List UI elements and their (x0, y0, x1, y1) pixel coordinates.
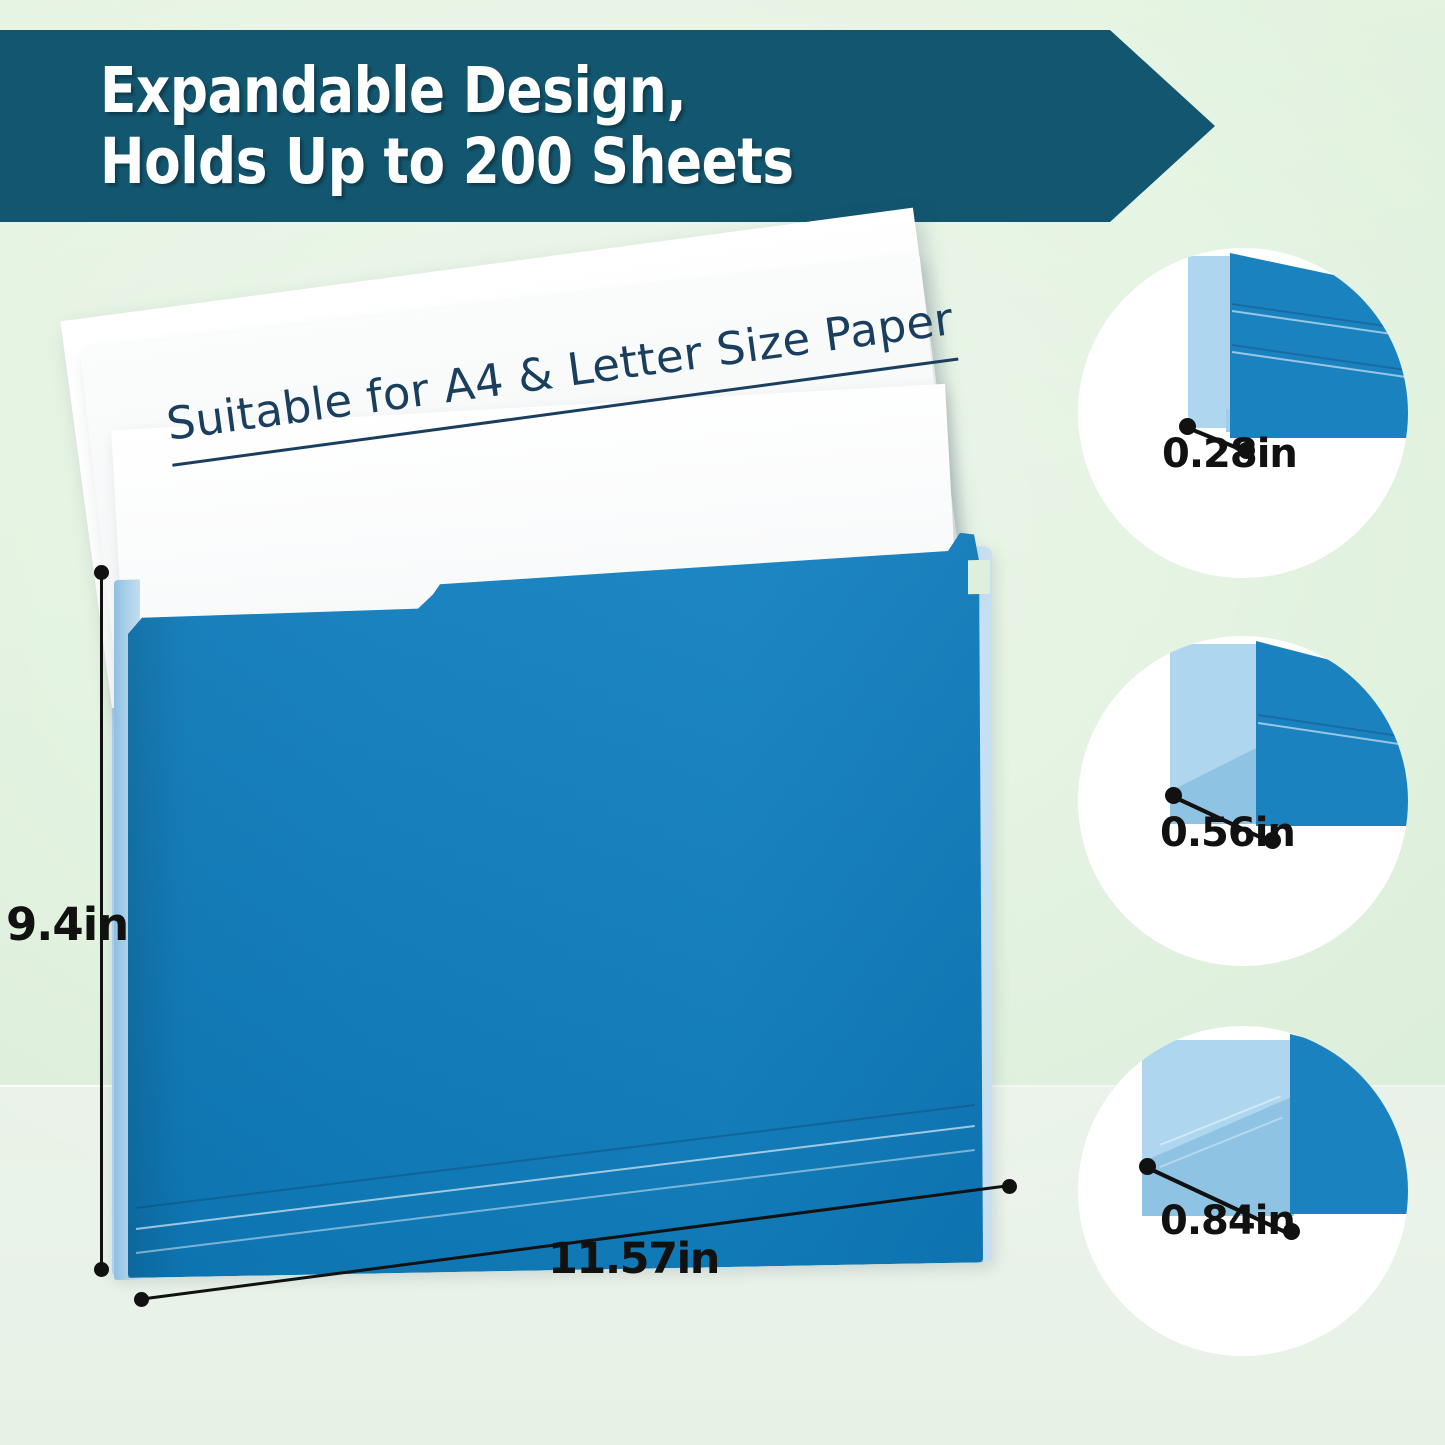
callout-circle-1: 0.28in (1078, 248, 1408, 578)
infographic-canvas: Expandable Design, Holds Up to 200 Sheet… (0, 0, 1445, 1445)
width-dimension-dot-left (134, 1292, 149, 1307)
product-illustration: Suitable for A4 & Letter Size Paper (0, 0, 1060, 1340)
callout-circle-3: 0.84in (1078, 1026, 1408, 1356)
folder-front-panel (128, 532, 983, 1278)
gusset-diagram-2 (1170, 636, 1408, 836)
callout-2-label: 0.56in (1160, 810, 1295, 856)
gusset-diagram-1 (1188, 248, 1408, 448)
callout-gusset-0-56: 0.56in (1078, 636, 1408, 966)
callout-3-label: 0.84in (1160, 1198, 1295, 1244)
callout-1-label: 0.28in (1162, 431, 1297, 477)
height-dimension-label: 9.4in (6, 898, 128, 951)
callout-circle-2: 0.56in (1078, 636, 1408, 966)
height-dimension-dot-top (94, 565, 109, 580)
height-dimension-dot-bottom (94, 1262, 109, 1277)
gusset-diagram-3 (1142, 1026, 1408, 1226)
folder-right-notch (968, 560, 990, 594)
callout-gusset-0-28: 0.28in (1078, 248, 1408, 578)
callout-gusset-0-84: 0.84in (1078, 1026, 1408, 1356)
width-dimension-label: 11.57in (548, 1234, 719, 1284)
width-dimension-dot-right (1002, 1179, 1017, 1194)
